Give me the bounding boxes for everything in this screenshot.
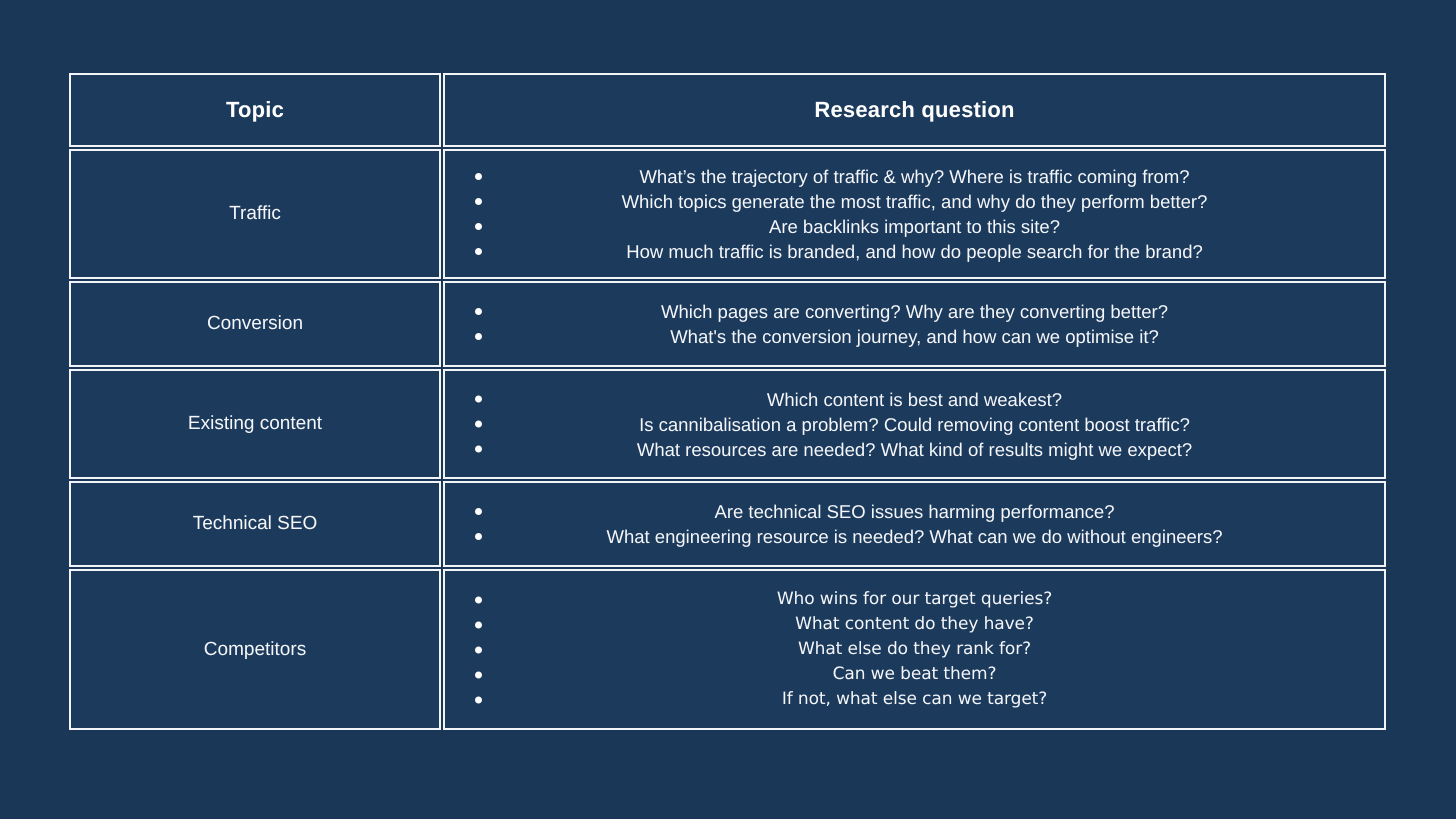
topic-label: Technical SEO bbox=[193, 513, 318, 535]
table-row: Competitors Who wins for our target quer… bbox=[69, 569, 1386, 730]
bullet-icon bbox=[475, 508, 482, 515]
bullet-list-markers bbox=[475, 164, 482, 264]
topic-cell-technical-seo: Technical SEO bbox=[69, 481, 441, 567]
bullet-icon bbox=[475, 223, 482, 230]
question-item: Which content is best and weakest? bbox=[459, 387, 1370, 412]
question-item: Which topics generate the most traffic, … bbox=[459, 189, 1370, 214]
bullet-list-markers bbox=[475, 299, 482, 349]
topic-label: Conversion bbox=[207, 313, 303, 335]
bullet-list-markers bbox=[475, 499, 482, 549]
topic-label: Traffic bbox=[229, 203, 281, 225]
bullet-list-markers bbox=[475, 587, 482, 712]
slide-canvas: Topic Research question Traffic bbox=[0, 0, 1456, 819]
question-item: Can we beat them? bbox=[459, 662, 1370, 687]
question-item: Are backlinks important to this site? bbox=[459, 214, 1370, 239]
question-item: If not, what else can we target? bbox=[459, 687, 1370, 712]
question-item: What else do they rank for? bbox=[459, 637, 1370, 662]
topic-label: Competitors bbox=[204, 639, 306, 661]
bullet-icon bbox=[475, 646, 482, 653]
bullet-list-markers bbox=[475, 387, 482, 462]
questions-cell-conversion: Which pages are converting? Why are they… bbox=[443, 281, 1386, 367]
question-list: What’s the trajectory of traffic & why? … bbox=[445, 164, 1384, 264]
table-row: Existing content Which content is best a… bbox=[69, 369, 1386, 479]
question-item: Which pages are converting? Why are they… bbox=[459, 299, 1370, 324]
table-row: Technical SEO Are technical SEO issues h… bbox=[69, 481, 1386, 567]
question-list: Which pages are converting? Why are they… bbox=[445, 299, 1384, 349]
topic-cell-traffic: Traffic bbox=[69, 149, 441, 279]
question-list: Who wins for our target queries? What co… bbox=[445, 587, 1384, 712]
questions-cell-traffic: What’s the trajectory of traffic & why? … bbox=[443, 149, 1386, 279]
question-item: What resources are needed? What kind of … bbox=[459, 437, 1370, 462]
bullet-icon bbox=[475, 671, 482, 678]
bullet-icon bbox=[475, 696, 482, 703]
table-row: Traffic What’s the trajectory of traffic… bbox=[69, 149, 1386, 279]
table-header-row: Topic Research question bbox=[69, 73, 1386, 147]
table-row: Conversion Which pages are converting? W… bbox=[69, 281, 1386, 367]
bullet-icon bbox=[475, 396, 482, 403]
bullet-icon bbox=[475, 533, 482, 540]
questions-cell-existing-content: Which content is best and weakest? Is ca… bbox=[443, 369, 1386, 479]
questions-cell-competitors: Who wins for our target queries? What co… bbox=[443, 569, 1386, 730]
bullet-icon bbox=[475, 596, 482, 603]
questions-cell-technical-seo: Are technical SEO issues harming perform… bbox=[443, 481, 1386, 567]
bullet-icon bbox=[475, 308, 482, 315]
topic-cell-conversion: Conversion bbox=[69, 281, 441, 367]
question-item: Are technical SEO issues harming perform… bbox=[459, 499, 1370, 524]
column-header-research-question: Research question bbox=[814, 97, 1014, 123]
bullet-icon bbox=[475, 173, 482, 180]
research-questions-table: Topic Research question Traffic bbox=[69, 73, 1386, 736]
header-cell-topic: Topic bbox=[69, 73, 441, 147]
header-cell-research-question: Research question bbox=[443, 73, 1386, 147]
column-header-topic: Topic bbox=[226, 97, 284, 123]
question-item: Who wins for our target queries? bbox=[459, 587, 1370, 612]
question-item: How much traffic is branded, and how do … bbox=[459, 239, 1370, 264]
question-list: Are technical SEO issues harming perform… bbox=[445, 499, 1384, 549]
bullet-icon bbox=[475, 621, 482, 628]
question-item: Is cannibalisation a problem? Could remo… bbox=[459, 412, 1370, 437]
topic-label: Existing content bbox=[188, 413, 322, 435]
question-list: Which content is best and weakest? Is ca… bbox=[445, 387, 1384, 462]
question-item: What content do they have? bbox=[459, 612, 1370, 637]
topic-cell-existing-content: Existing content bbox=[69, 369, 441, 479]
question-item: What engineering resource is needed? Wha… bbox=[459, 524, 1370, 549]
bullet-icon bbox=[475, 446, 482, 453]
bullet-icon bbox=[475, 333, 482, 340]
bullet-icon bbox=[475, 421, 482, 428]
question-item: What’s the trajectory of traffic & why? … bbox=[459, 164, 1370, 189]
topic-cell-competitors: Competitors bbox=[69, 569, 441, 730]
bullet-icon bbox=[475, 198, 482, 205]
bullet-icon bbox=[475, 248, 482, 255]
question-item: What's the conversion journey, and how c… bbox=[459, 324, 1370, 349]
